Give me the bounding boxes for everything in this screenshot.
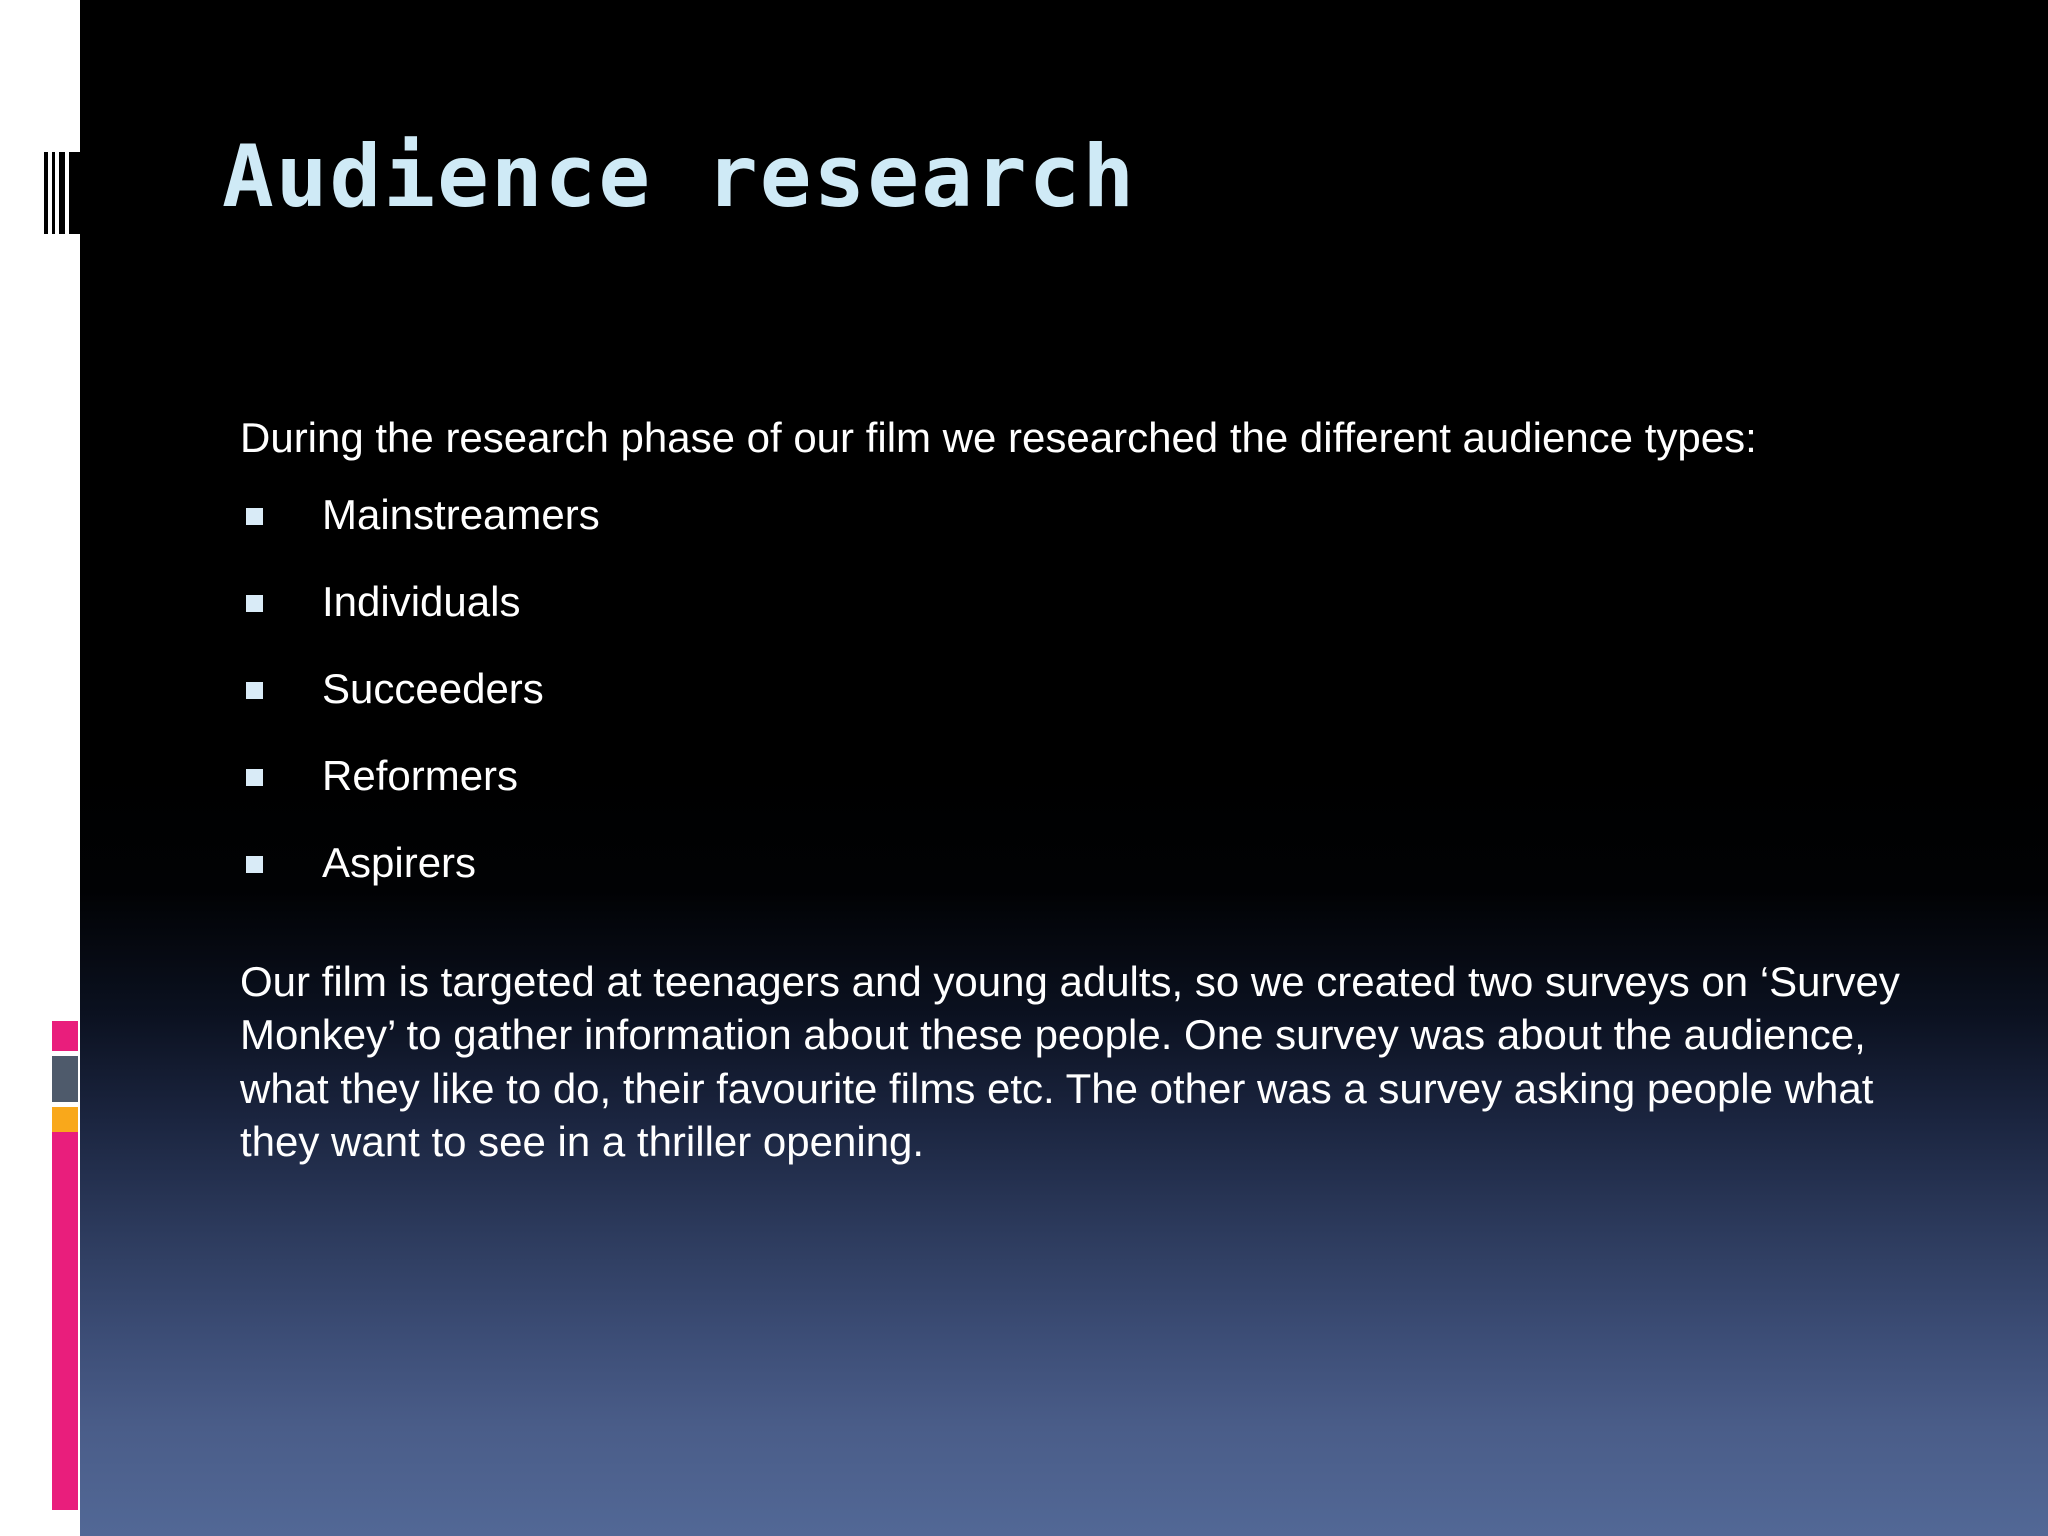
accent-bar-pink-long — [52, 1132, 78, 1510]
bullet-square-icon — [246, 508, 263, 525]
list-item: Mainstreamers — [240, 491, 1960, 539]
list-item-label: Aspirers — [322, 842, 476, 884]
bullet-square-icon — [246, 595, 263, 612]
list-item: Succeeders — [240, 665, 1960, 713]
barcode-icon — [44, 152, 80, 234]
list-item: Individuals — [240, 578, 1960, 626]
barcode-bar — [59, 152, 65, 234]
list-item: Reformers — [240, 752, 1960, 800]
accent-chip-pink-small — [52, 1021, 78, 1051]
list-item-label: Succeeders — [322, 668, 544, 710]
bullet-square-icon — [246, 682, 263, 699]
bullet-square-icon — [246, 856, 263, 873]
slide-title: Audience research — [222, 132, 1136, 222]
list-item-label: Mainstreamers — [322, 494, 600, 536]
intro-paragraph: During the research phase of our film we… — [240, 412, 1860, 465]
slide-body: During the research phase of our film we… — [240, 412, 1960, 1168]
barcode-bar — [52, 152, 56, 234]
audience-types-list: Mainstreamers Individuals Succeeders Ref… — [240, 491, 1960, 887]
list-item-label: Reformers — [322, 755, 518, 797]
list-item: Aspirers — [240, 839, 1960, 887]
accent-chip-slate — [52, 1056, 78, 1102]
list-item-label: Individuals — [322, 581, 520, 623]
closing-paragraph: Our film is targeted at teenagers and yo… — [240, 955, 1940, 1168]
barcode-bar — [69, 152, 80, 234]
barcode-bar — [44, 152, 48, 234]
bullet-square-icon — [246, 769, 263, 786]
presentation-slide: Audience research During the research ph… — [0, 0, 2048, 1536]
